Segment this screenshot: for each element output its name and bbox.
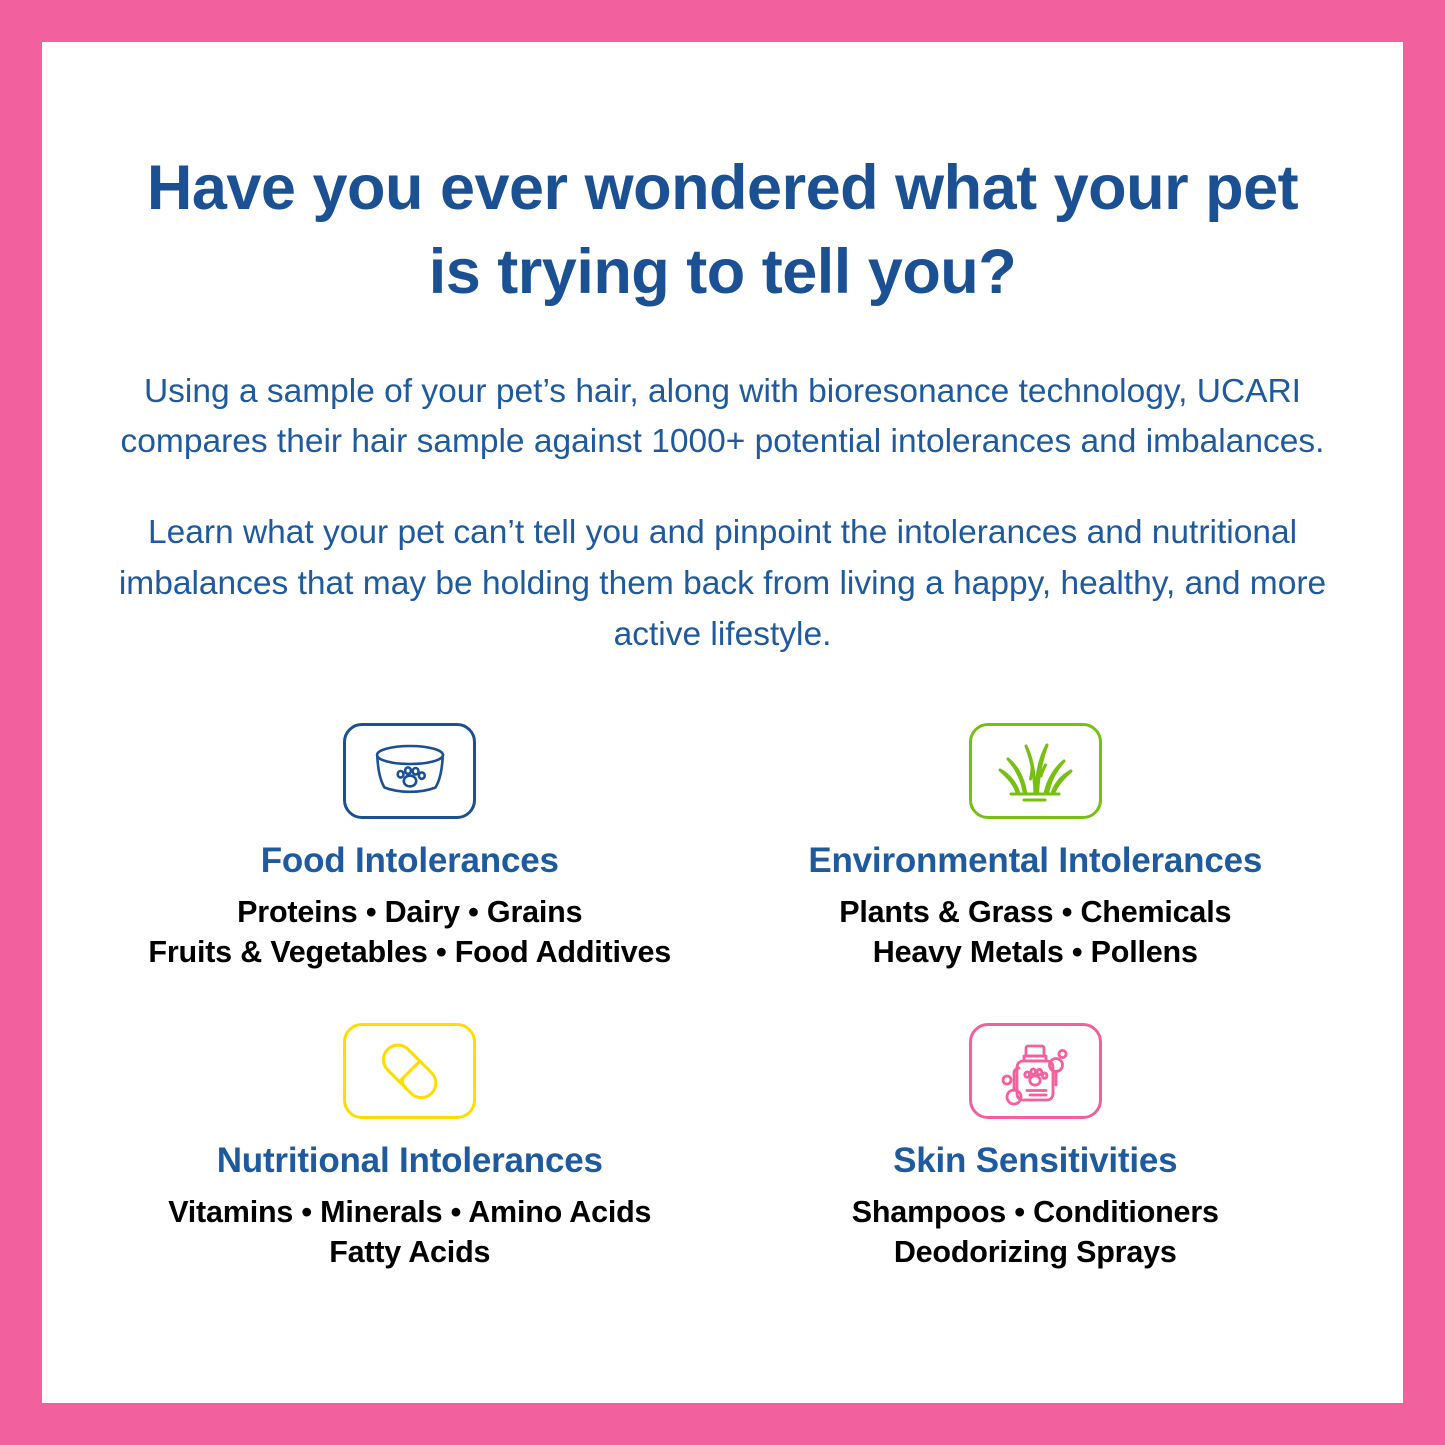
grass-icon (969, 723, 1102, 819)
intro-copy: Using a sample of your pet’s hair, along… (42, 367, 1403, 662)
page-title: Have you ever wondered what your pet is … (42, 147, 1403, 315)
category-items-line-1: Plants & Grass • Chemicals (839, 893, 1231, 933)
category-skin-sensitivities: Skin Sensitivities Shampoos • Conditione… (723, 1023, 1349, 1273)
category-items-line-1: Shampoos • Conditioners (852, 1193, 1219, 1233)
capsule-pill-icon (343, 1023, 476, 1119)
paragraph-2: Learn what your pet can’t tell you and p… (117, 508, 1328, 661)
category-title: Environmental Intolerances (808, 841, 1262, 881)
category-items: Plants & Grass • Chemicals Heavy Metals … (839, 893, 1231, 972)
poster-frame: Have you ever wondered what your pet is … (0, 0, 1445, 1445)
category-title: Food Intolerances (261, 841, 559, 881)
category-items: Shampoos • Conditioners Deodorizing Spra… (852, 1193, 1219, 1272)
pet-food-bowl-icon (343, 723, 476, 819)
category-items-line-2: Heavy Metals • Pollens (839, 933, 1231, 973)
shampoo-bottle-icon (969, 1023, 1102, 1119)
category-items-line-2: Fruits & Vegetables • Food Additives (148, 933, 671, 973)
category-items-line-2: Deodorizing Sprays (852, 1233, 1219, 1273)
category-title: Skin Sensitivities (893, 1141, 1177, 1181)
poster-card: Have you ever wondered what your pet is … (42, 42, 1403, 1403)
category-items-line-1: Proteins • Dairy • Grains (148, 893, 671, 933)
category-items-line-2: Fatty Acids (168, 1233, 651, 1273)
category-items: Vitamins • Minerals • Amino Acids Fatty … (168, 1193, 651, 1272)
category-nutritional-intolerances: Nutritional Intolerances Vitamins • Mine… (97, 1023, 723, 1273)
paragraph-1: Using a sample of your pet’s hair, along… (117, 367, 1328, 469)
category-environmental-intolerances: Environmental Intolerances Plants & Gras… (723, 723, 1349, 973)
category-grid: Food Intolerances Proteins • Dairy • Gra… (42, 723, 1403, 1272)
category-items: Proteins • Dairy • Grains Fruits & Veget… (148, 893, 671, 972)
category-food-intolerances: Food Intolerances Proteins • Dairy • Gra… (97, 723, 723, 973)
category-items-line-1: Vitamins • Minerals • Amino Acids (168, 1193, 651, 1233)
category-title: Nutritional Intolerances (217, 1141, 603, 1181)
